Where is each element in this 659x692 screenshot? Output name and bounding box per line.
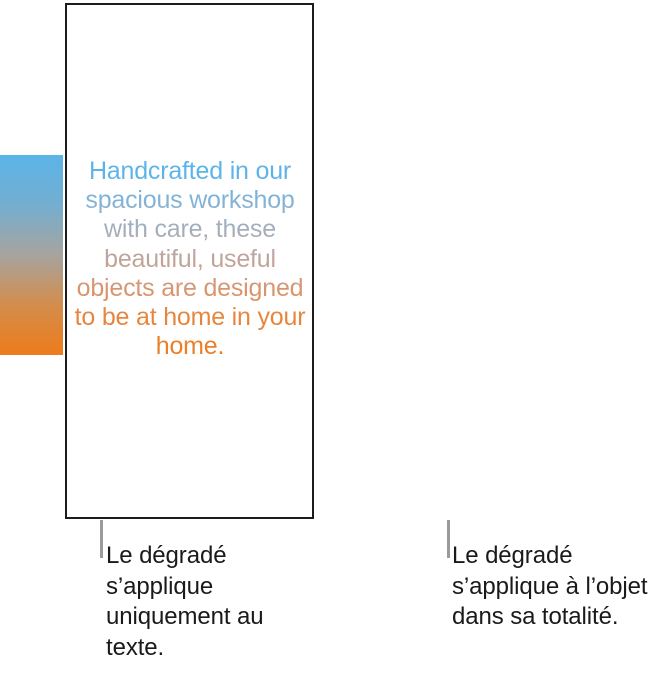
- example-text-only-gradient: Handcrafted in our spacious workshop wit…: [0, 0, 330, 528]
- leader-line-left: [100, 520, 103, 558]
- example-whole-object-gradient: Handcrafted in our spacious workshop wit…: [330, 0, 659, 528]
- gradient-swatch-text[interactable]: [0, 155, 63, 355]
- caption-whole-object: Le dégradé s’applique à l’objet dans sa …: [452, 541, 659, 633]
- caption-text-only: Le dégradé s’applique uniquement au text…: [106, 541, 321, 663]
- sample-text-left: Handcrafted in our spacious workshop wit…: [70, 157, 310, 361]
- leader-line-right: [447, 520, 450, 558]
- gradient-comparison-figure: { "figure": { "title": "Comparaison de d…: [0, 0, 659, 692]
